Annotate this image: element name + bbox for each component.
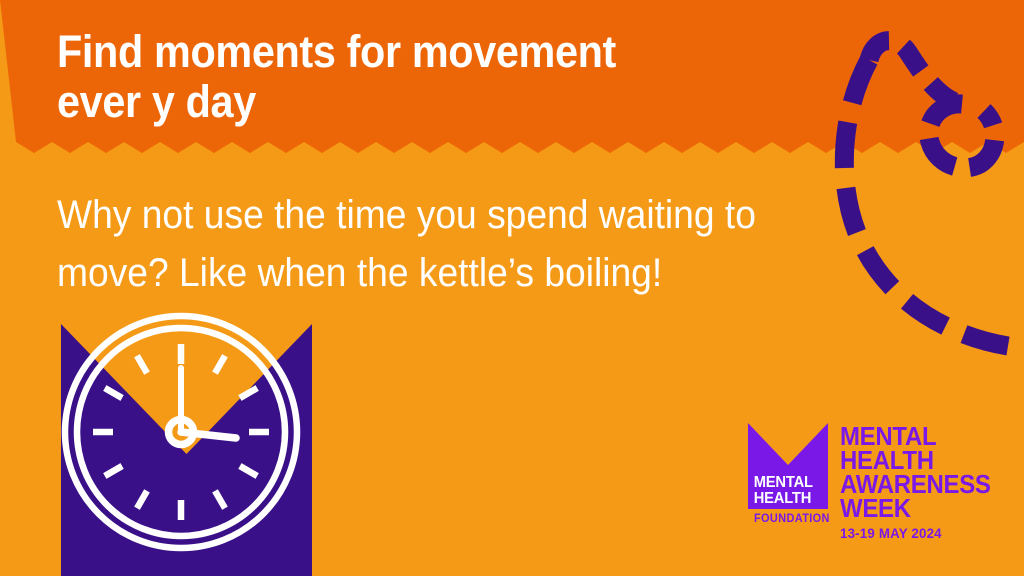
logo-mark-wordmark: MENTAL HEALTH xyxy=(748,475,824,507)
dashed-swirl-arc-decoration xyxy=(812,18,1024,348)
campaign-wordmark: MENTAL HEALTH AWARENESS WEEK 13-19 MAY 2… xyxy=(840,423,1000,541)
clock-illustration xyxy=(40,310,340,576)
poster-canvas: Find moments for movement ever y day Why… xyxy=(0,0,1024,576)
logo-mark-foundation-label: FOUNDATION xyxy=(754,513,830,525)
campaign-dates: 13-19 MAY 2024 xyxy=(840,526,992,541)
campaign-line-4: WEEK xyxy=(840,497,991,521)
body-copy: Why not use the time you spend waiting t… xyxy=(57,186,764,302)
campaign-line-1: MENTAL xyxy=(840,425,991,449)
campaign-line-3: AWARENESS xyxy=(840,473,991,497)
campaign-line-2: HEALTH xyxy=(840,449,991,473)
page-headline: Find moments for movement ever y day xyxy=(57,27,683,127)
logo-lockup: MENTAL HEALTH FOUNDATION MENTAL HEALTH A… xyxy=(748,423,1014,553)
mental-health-foundation-logo-mark: MENTAL HEALTH FOUNDATION xyxy=(748,423,828,529)
